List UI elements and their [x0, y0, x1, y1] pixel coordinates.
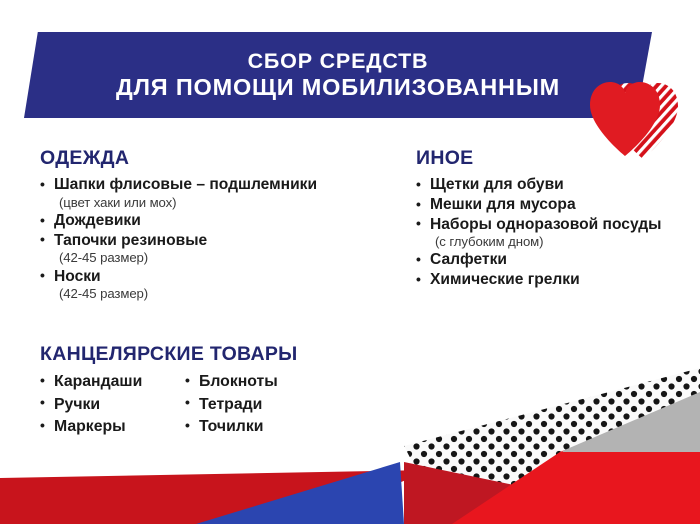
item-label: Шапки флисовые – подшлемники — [40, 175, 400, 195]
item-label: Мешки для мусора — [416, 195, 666, 215]
section-title-clothing: ОДЕЖДА — [40, 148, 400, 169]
list-item: Наборы одноразовой посуды (с глубоким дн… — [416, 215, 666, 251]
section-other: ИНОЕ Щетки для обуви Мешки для мусора На… — [416, 148, 666, 290]
item-label: Химические грелки — [416, 270, 666, 290]
item-note: (с глубоким дном) — [416, 234, 666, 250]
section-clothing: ОДЕЖДА Шапки флисовые – подшлемники (цве… — [40, 148, 400, 302]
list-item: Шапки флисовые – подшлемники (цвет хаки … — [40, 175, 400, 211]
heart-graphic — [586, 74, 682, 160]
item-label: Точилки — [185, 416, 370, 438]
stationery-columns: Карандаши Блокноты Ручки Тетради Маркеры… — [40, 371, 370, 438]
list-item: Мешки для мусора — [416, 195, 666, 215]
poster-canvas: СБОР СРЕДСТВ ДЛЯ ПОМОЩИ МОБИЛИЗОВАННЫМ О… — [0, 0, 700, 524]
item-label: Маркеры — [40, 416, 185, 438]
item-label: Носки — [40, 267, 400, 287]
list-item: Химические грелки — [416, 270, 666, 290]
item-label: Наборы одноразовой посуды — [416, 215, 666, 235]
list-clothing: Шапки флисовые – подшлемники (цвет хаки … — [40, 175, 400, 302]
list-item: Носки (42-45 размер) — [40, 267, 400, 303]
list-item: Тапочки резиновые (42-45 размер) — [40, 231, 400, 267]
list-other: Щетки для обуви Мешки для мусора Наборы … — [416, 175, 666, 289]
item-label: Салфетки — [416, 250, 666, 270]
section-stationery: КАНЦЕЛЯРСКИЕ ТОВАРЫ Карандаши Блокноты Р… — [40, 344, 370, 439]
item-label: Щетки для обуви — [416, 175, 666, 195]
header-banner: СБОР СРЕДСТВ ДЛЯ ПОМОЩИ МОБИЛИЗОВАННЫМ — [24, 32, 652, 118]
item-label: Дождевики — [40, 211, 400, 231]
item-note: (цвет хаки или мох) — [40, 195, 400, 211]
banner-title-line-2: ДЛЯ ПОМОЩИ МОБИЛИЗОВАННЫМ — [116, 75, 560, 100]
banner-title-line-1: СБОР СРЕДСТВ — [248, 50, 429, 73]
item-label: Ручки — [40, 394, 185, 416]
item-label: Тетради — [185, 394, 370, 416]
banner-text-group: СБОР СРЕДСТВ ДЛЯ ПОМОЩИ МОБИЛИЗОВАННЫМ — [24, 32, 652, 118]
item-label: Блокноты — [185, 371, 370, 393]
item-note: (42-45 размер) — [40, 250, 400, 266]
section-title-stationery: КАНЦЕЛЯРСКИЕ ТОВАРЫ — [40, 344, 370, 365]
item-label: Тапочки резиновые — [40, 231, 400, 251]
list-item: Щетки для обуви — [416, 175, 666, 195]
item-label: Карандаши — [40, 371, 185, 393]
list-item: Салфетки — [416, 250, 666, 270]
list-item: Дождевики — [40, 211, 400, 231]
item-note: (42-45 размер) — [40, 286, 400, 302]
